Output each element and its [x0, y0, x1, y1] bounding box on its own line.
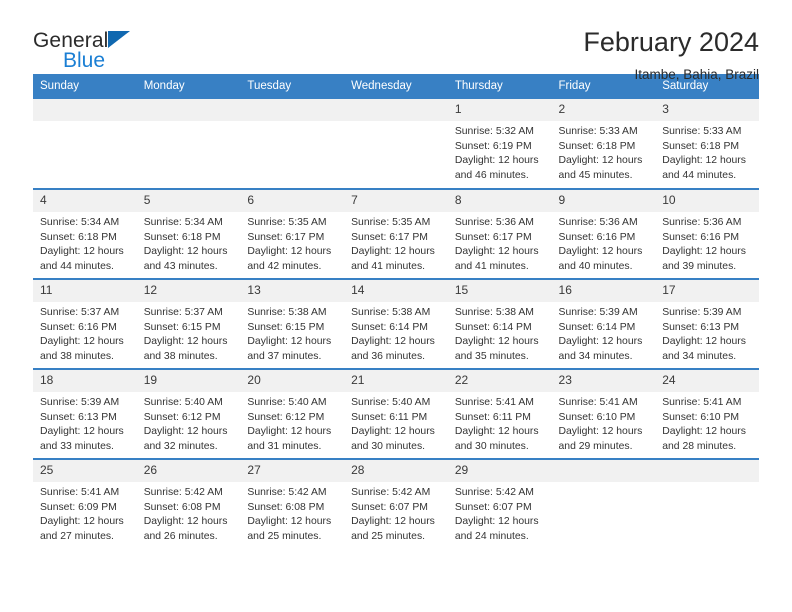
day-cell[interactable]: 27Sunrise: 5:42 AMSunset: 6:08 PMDayligh…: [240, 459, 344, 549]
day-details: Sunrise: 5:41 AMSunset: 6:10 PMDaylight:…: [552, 392, 656, 454]
day-cell[interactable]: 14Sunrise: 5:38 AMSunset: 6:14 PMDayligh…: [344, 279, 448, 369]
sunset-text: Sunset: 6:14 PM: [455, 321, 544, 336]
day-cell[interactable]: 7Sunrise: 5:35 AMSunset: 6:17 PMDaylight…: [344, 189, 448, 279]
daylight-text-line1: Daylight: 12 hours: [455, 245, 544, 260]
day-cell[interactable]: 21Sunrise: 5:40 AMSunset: 6:11 PMDayligh…: [344, 369, 448, 459]
sunrise-text: Sunrise: 5:41 AM: [559, 396, 648, 411]
day-number: [655, 460, 759, 482]
week-row: 4Sunrise: 5:34 AMSunset: 6:18 PMDaylight…: [33, 189, 759, 279]
sunset-text: Sunset: 6:18 PM: [662, 140, 751, 155]
day-details: Sunrise: 5:36 AMSunset: 6:16 PMDaylight:…: [655, 212, 759, 274]
day-details: Sunrise: 5:39 AMSunset: 6:13 PMDaylight:…: [33, 392, 137, 454]
day-details: Sunrise: 5:35 AMSunset: 6:17 PMDaylight:…: [344, 212, 448, 274]
sunset-text: Sunset: 6:18 PM: [144, 231, 233, 246]
day-details: Sunrise: 5:33 AMSunset: 6:18 PMDaylight:…: [655, 121, 759, 183]
day-number: 17: [655, 280, 759, 302]
day-number: 28: [344, 460, 448, 482]
day-number: 4: [33, 190, 137, 212]
sunset-text: Sunset: 6:08 PM: [247, 501, 336, 516]
weekday-header-thursday: Thursday: [448, 74, 552, 99]
day-number: 22: [448, 370, 552, 392]
day-details: Sunrise: 5:34 AMSunset: 6:18 PMDaylight:…: [33, 212, 137, 274]
day-number: 29: [448, 460, 552, 482]
page-title: February 2024: [583, 26, 759, 58]
day-details: Sunrise: 5:39 AMSunset: 6:14 PMDaylight:…: [552, 302, 656, 364]
day-number: 23: [552, 370, 656, 392]
sunrise-text: Sunrise: 5:34 AM: [40, 216, 129, 231]
day-number: [137, 99, 241, 121]
day-cell-empty: [655, 459, 759, 549]
daylight-text-line2: and 27 minutes.: [40, 530, 129, 545]
day-details: Sunrise: 5:36 AMSunset: 6:17 PMDaylight:…: [448, 212, 552, 274]
daylight-text-line1: Daylight: 12 hours: [559, 154, 648, 169]
day-details: Sunrise: 5:42 AMSunset: 6:08 PMDaylight:…: [137, 482, 241, 544]
daylight-text-line2: and 34 minutes.: [662, 350, 751, 365]
sunrise-text: Sunrise: 5:41 AM: [662, 396, 751, 411]
sunset-text: Sunset: 6:18 PM: [559, 140, 648, 155]
sunset-text: Sunset: 6:16 PM: [662, 231, 751, 246]
day-number: 26: [137, 460, 241, 482]
sunset-text: Sunset: 6:11 PM: [351, 411, 440, 426]
weekday-header-monday: Monday: [137, 74, 241, 99]
daylight-text-line1: Daylight: 12 hours: [144, 425, 233, 440]
daylight-text-line2: and 38 minutes.: [144, 350, 233, 365]
daylight-text-line1: Daylight: 12 hours: [40, 335, 129, 350]
daylight-text-line1: Daylight: 12 hours: [559, 335, 648, 350]
daylight-text-line2: and 31 minutes.: [247, 440, 336, 455]
sunrise-text: Sunrise: 5:35 AM: [351, 216, 440, 231]
day-cell[interactable]: 25Sunrise: 5:41 AMSunset: 6:09 PMDayligh…: [33, 459, 137, 549]
daylight-text-line2: and 36 minutes.: [351, 350, 440, 365]
sunset-text: Sunset: 6:08 PM: [144, 501, 233, 516]
day-number: [33, 99, 137, 121]
day-number: 13: [240, 280, 344, 302]
weekday-header-sunday: Sunday: [33, 74, 137, 99]
daylight-text-line1: Daylight: 12 hours: [351, 515, 440, 530]
day-number: 10: [655, 190, 759, 212]
day-cell[interactable]: 22Sunrise: 5:41 AMSunset: 6:11 PMDayligh…: [448, 369, 552, 459]
daylight-text-line2: and 43 minutes.: [144, 260, 233, 275]
day-cell-empty: [240, 99, 344, 189]
daylight-text-line1: Daylight: 12 hours: [455, 515, 544, 530]
sunset-text: Sunset: 6:10 PM: [662, 411, 751, 426]
sunrise-text: Sunrise: 5:41 AM: [40, 486, 129, 501]
daylight-text-line1: Daylight: 12 hours: [662, 425, 751, 440]
day-number: 11: [33, 280, 137, 302]
day-number: 6: [240, 190, 344, 212]
daylight-text-line2: and 39 minutes.: [662, 260, 751, 275]
daylight-text-line2: and 26 minutes.: [144, 530, 233, 545]
daylight-text-line1: Daylight: 12 hours: [455, 154, 544, 169]
day-cell[interactable]: 11Sunrise: 5:37 AMSunset: 6:16 PMDayligh…: [33, 279, 137, 369]
sunrise-text: Sunrise: 5:34 AM: [144, 216, 233, 231]
day-cell[interactable]: 10Sunrise: 5:36 AMSunset: 6:16 PMDayligh…: [655, 189, 759, 279]
day-cell[interactable]: 19Sunrise: 5:40 AMSunset: 6:12 PMDayligh…: [137, 369, 241, 459]
day-cell[interactable]: 4Sunrise: 5:34 AMSunset: 6:18 PMDaylight…: [33, 189, 137, 279]
day-cell[interactable]: 24Sunrise: 5:41 AMSunset: 6:10 PMDayligh…: [655, 369, 759, 459]
sunrise-text: Sunrise: 5:38 AM: [247, 306, 336, 321]
sunset-text: Sunset: 6:17 PM: [247, 231, 336, 246]
sunrise-text: Sunrise: 5:39 AM: [40, 396, 129, 411]
day-number: 8: [448, 190, 552, 212]
day-number: 3: [655, 99, 759, 121]
page-header: General Blue February 2024 Itambe, Bahia…: [33, 0, 759, 74]
calendar-grid: SundayMondayTuesdayWednesdayThursdayFrid…: [33, 74, 759, 549]
day-details: Sunrise: 5:38 AMSunset: 6:15 PMDaylight:…: [240, 302, 344, 364]
day-details: Sunrise: 5:41 AMSunset: 6:10 PMDaylight:…: [655, 392, 759, 454]
day-number: 2: [552, 99, 656, 121]
daylight-text-line2: and 46 minutes.: [455, 169, 544, 184]
day-number: 16: [552, 280, 656, 302]
sunrise-text: Sunrise: 5:36 AM: [662, 216, 751, 231]
day-cell[interactable]: 17Sunrise: 5:39 AMSunset: 6:13 PMDayligh…: [655, 279, 759, 369]
day-details: Sunrise: 5:38 AMSunset: 6:14 PMDaylight:…: [344, 302, 448, 364]
day-details: Sunrise: 5:35 AMSunset: 6:17 PMDaylight:…: [240, 212, 344, 274]
sunrise-text: Sunrise: 5:42 AM: [455, 486, 544, 501]
day-details: Sunrise: 5:40 AMSunset: 6:12 PMDaylight:…: [240, 392, 344, 454]
daylight-text-line1: Daylight: 12 hours: [247, 245, 336, 260]
sunrise-text: Sunrise: 5:42 AM: [144, 486, 233, 501]
day-details: Sunrise: 5:42 AMSunset: 6:07 PMDaylight:…: [344, 482, 448, 544]
day-cell-empty: [137, 99, 241, 189]
daylight-text-line2: and 44 minutes.: [40, 260, 129, 275]
sunrise-text: Sunrise: 5:42 AM: [247, 486, 336, 501]
brand-logo[interactable]: General Blue: [33, 26, 163, 71]
sunrise-text: Sunrise: 5:32 AM: [455, 125, 544, 140]
daylight-text-line2: and 25 minutes.: [247, 530, 336, 545]
sunrise-text: Sunrise: 5:40 AM: [247, 396, 336, 411]
day-cell[interactable]: 1Sunrise: 5:32 AMSunset: 6:19 PMDaylight…: [448, 99, 552, 189]
daylight-text-line1: Daylight: 12 hours: [247, 515, 336, 530]
daylight-text-line2: and 40 minutes.: [559, 260, 648, 275]
day-number: [240, 99, 344, 121]
day-number: 5: [137, 190, 241, 212]
day-details: Sunrise: 5:34 AMSunset: 6:18 PMDaylight:…: [137, 212, 241, 274]
day-details: Sunrise: 5:36 AMSunset: 6:16 PMDaylight:…: [552, 212, 656, 274]
sunrise-text: Sunrise: 5:36 AM: [559, 216, 648, 231]
day-cell[interactable]: 6Sunrise: 5:35 AMSunset: 6:17 PMDaylight…: [240, 189, 344, 279]
daylight-text-line2: and 45 minutes.: [559, 169, 648, 184]
daylight-text-line1: Daylight: 12 hours: [144, 335, 233, 350]
sunset-text: Sunset: 6:14 PM: [351, 321, 440, 336]
sunrise-text: Sunrise: 5:36 AM: [455, 216, 544, 231]
day-cell-empty: [552, 459, 656, 549]
sunrise-text: Sunrise: 5:37 AM: [40, 306, 129, 321]
sunset-text: Sunset: 6:13 PM: [662, 321, 751, 336]
day-number: 12: [137, 280, 241, 302]
daylight-text-line1: Daylight: 12 hours: [455, 425, 544, 440]
daylight-text-line2: and 42 minutes.: [247, 260, 336, 275]
sunrise-text: Sunrise: 5:33 AM: [559, 125, 648, 140]
daylight-text-line2: and 34 minutes.: [559, 350, 648, 365]
sunset-text: Sunset: 6:07 PM: [351, 501, 440, 516]
daylight-text-line1: Daylight: 12 hours: [144, 515, 233, 530]
day-number: 19: [137, 370, 241, 392]
daylight-text-line2: and 28 minutes.: [662, 440, 751, 455]
daylight-text-line2: and 44 minutes.: [662, 169, 751, 184]
daylight-text-line2: and 41 minutes.: [455, 260, 544, 275]
day-cell[interactable]: 8Sunrise: 5:36 AMSunset: 6:17 PMDaylight…: [448, 189, 552, 279]
daylight-text-line1: Daylight: 12 hours: [455, 335, 544, 350]
daylight-text-line2: and 35 minutes.: [455, 350, 544, 365]
week-row: 18Sunrise: 5:39 AMSunset: 6:13 PMDayligh…: [33, 369, 759, 459]
daylight-text-line1: Daylight: 12 hours: [559, 425, 648, 440]
week-row: 1Sunrise: 5:32 AMSunset: 6:19 PMDaylight…: [33, 99, 759, 189]
day-number: 7: [344, 190, 448, 212]
title-block: February 2024 Itambe, Bahia, Brazil: [583, 26, 759, 85]
weekday-header-tuesday: Tuesday: [240, 74, 344, 99]
day-cell[interactable]: 13Sunrise: 5:38 AMSunset: 6:15 PMDayligh…: [240, 279, 344, 369]
day-cell-empty: [344, 99, 448, 189]
brand-name-blue: Blue: [63, 50, 163, 71]
day-number: 27: [240, 460, 344, 482]
sunrise-text: Sunrise: 5:33 AM: [662, 125, 751, 140]
daylight-text-line2: and 38 minutes.: [40, 350, 129, 365]
day-number: 18: [33, 370, 137, 392]
day-number: 14: [344, 280, 448, 302]
daylight-text-line1: Daylight: 12 hours: [40, 245, 129, 260]
day-cell[interactable]: 16Sunrise: 5:39 AMSunset: 6:14 PMDayligh…: [552, 279, 656, 369]
daylight-text-line1: Daylight: 12 hours: [40, 425, 129, 440]
daylight-text-line1: Daylight: 12 hours: [351, 335, 440, 350]
sunrise-text: Sunrise: 5:37 AM: [144, 306, 233, 321]
day-number: 21: [344, 370, 448, 392]
daylight-text-line2: and 29 minutes.: [559, 440, 648, 455]
sunrise-text: Sunrise: 5:40 AM: [144, 396, 233, 411]
sunset-text: Sunset: 6:18 PM: [40, 231, 129, 246]
day-cell[interactable]: 2Sunrise: 5:33 AMSunset: 6:18 PMDaylight…: [552, 99, 656, 189]
sunrise-text: Sunrise: 5:38 AM: [455, 306, 544, 321]
daylight-text-line2: and 41 minutes.: [351, 260, 440, 275]
daylight-text-line1: Daylight: 12 hours: [144, 245, 233, 260]
day-number: 15: [448, 280, 552, 302]
daylight-text-line1: Daylight: 12 hours: [662, 335, 751, 350]
sunset-text: Sunset: 6:17 PM: [455, 231, 544, 246]
sunset-text: Sunset: 6:07 PM: [455, 501, 544, 516]
week-row: 25Sunrise: 5:41 AMSunset: 6:09 PMDayligh…: [33, 459, 759, 549]
day-number: 24: [655, 370, 759, 392]
day-details: Sunrise: 5:42 AMSunset: 6:08 PMDaylight:…: [240, 482, 344, 544]
day-cell[interactable]: 3Sunrise: 5:33 AMSunset: 6:18 PMDaylight…: [655, 99, 759, 189]
day-cell[interactable]: 12Sunrise: 5:37 AMSunset: 6:15 PMDayligh…: [137, 279, 241, 369]
triangle-icon: [108, 31, 130, 48]
day-details: Sunrise: 5:41 AMSunset: 6:11 PMDaylight:…: [448, 392, 552, 454]
day-cell[interactable]: 18Sunrise: 5:39 AMSunset: 6:13 PMDayligh…: [33, 369, 137, 459]
day-details: Sunrise: 5:40 AMSunset: 6:12 PMDaylight:…: [137, 392, 241, 454]
sunrise-text: Sunrise: 5:38 AM: [351, 306, 440, 321]
day-number: 25: [33, 460, 137, 482]
sunset-text: Sunset: 6:15 PM: [144, 321, 233, 336]
day-cell[interactable]: 5Sunrise: 5:34 AMSunset: 6:18 PMDaylight…: [137, 189, 241, 279]
sunset-text: Sunset: 6:16 PM: [559, 231, 648, 246]
sunset-text: Sunset: 6:09 PM: [40, 501, 129, 516]
sunrise-text: Sunrise: 5:41 AM: [455, 396, 544, 411]
sunset-text: Sunset: 6:11 PM: [455, 411, 544, 426]
sunrise-text: Sunrise: 5:39 AM: [662, 306, 751, 321]
week-row: 11Sunrise: 5:37 AMSunset: 6:16 PMDayligh…: [33, 279, 759, 369]
day-details: Sunrise: 5:38 AMSunset: 6:14 PMDaylight:…: [448, 302, 552, 364]
day-cell-empty: [33, 99, 137, 189]
weekday-header-wednesday: Wednesday: [344, 74, 448, 99]
daylight-text-line2: and 30 minutes.: [351, 440, 440, 455]
daylight-text-line1: Daylight: 12 hours: [662, 154, 751, 169]
sunset-text: Sunset: 6:12 PM: [247, 411, 336, 426]
day-cell[interactable]: 29Sunrise: 5:42 AMSunset: 6:07 PMDayligh…: [448, 459, 552, 549]
day-details: Sunrise: 5:33 AMSunset: 6:18 PMDaylight:…: [552, 121, 656, 183]
sunset-text: Sunset: 6:10 PM: [559, 411, 648, 426]
calendar-body: 1Sunrise: 5:32 AMSunset: 6:19 PMDaylight…: [33, 99, 759, 549]
daylight-text-line1: Daylight: 12 hours: [247, 425, 336, 440]
daylight-text-line1: Daylight: 12 hours: [351, 245, 440, 260]
day-details: Sunrise: 5:32 AMSunset: 6:19 PMDaylight:…: [448, 121, 552, 183]
sunset-text: Sunset: 6:17 PM: [351, 231, 440, 246]
sunset-text: Sunset: 6:19 PM: [455, 140, 544, 155]
day-cell[interactable]: 28Sunrise: 5:42 AMSunset: 6:07 PMDayligh…: [344, 459, 448, 549]
day-cell[interactable]: 15Sunrise: 5:38 AMSunset: 6:14 PMDayligh…: [448, 279, 552, 369]
sunrise-text: Sunrise: 5:35 AM: [247, 216, 336, 231]
sunset-text: Sunset: 6:16 PM: [40, 321, 129, 336]
day-details: Sunrise: 5:37 AMSunset: 6:16 PMDaylight:…: [33, 302, 137, 364]
daylight-text-line2: and 32 minutes.: [144, 440, 233, 455]
daylight-text-line1: Daylight: 12 hours: [559, 245, 648, 260]
day-number: 20: [240, 370, 344, 392]
calendar-page: General Blue February 2024 Itambe, Bahia…: [0, 0, 792, 612]
day-cell[interactable]: 26Sunrise: 5:42 AMSunset: 6:08 PMDayligh…: [137, 459, 241, 549]
daylight-text-line2: and 24 minutes.: [455, 530, 544, 545]
day-details: Sunrise: 5:39 AMSunset: 6:13 PMDaylight:…: [655, 302, 759, 364]
daylight-text-line2: and 37 minutes.: [247, 350, 336, 365]
sunrise-text: Sunrise: 5:42 AM: [351, 486, 440, 501]
day-details: Sunrise: 5:40 AMSunset: 6:11 PMDaylight:…: [344, 392, 448, 454]
day-number: 1: [448, 99, 552, 121]
day-cell[interactable]: 9Sunrise: 5:36 AMSunset: 6:16 PMDaylight…: [552, 189, 656, 279]
day-cell[interactable]: 20Sunrise: 5:40 AMSunset: 6:12 PMDayligh…: [240, 369, 344, 459]
sunset-text: Sunset: 6:13 PM: [40, 411, 129, 426]
daylight-text-line1: Daylight: 12 hours: [351, 425, 440, 440]
day-details: Sunrise: 5:42 AMSunset: 6:07 PMDaylight:…: [448, 482, 552, 544]
daylight-text-line1: Daylight: 12 hours: [40, 515, 129, 530]
daylight-text-line1: Daylight: 12 hours: [662, 245, 751, 260]
day-number: [552, 460, 656, 482]
daylight-text-line2: and 33 minutes.: [40, 440, 129, 455]
sunrise-text: Sunrise: 5:40 AM: [351, 396, 440, 411]
daylight-text-line1: Daylight: 12 hours: [247, 335, 336, 350]
daylight-text-line2: and 30 minutes.: [455, 440, 544, 455]
sunset-text: Sunset: 6:12 PM: [144, 411, 233, 426]
sunrise-text: Sunrise: 5:39 AM: [559, 306, 648, 321]
day-cell[interactable]: 23Sunrise: 5:41 AMSunset: 6:10 PMDayligh…: [552, 369, 656, 459]
day-number: [344, 99, 448, 121]
day-details: Sunrise: 5:37 AMSunset: 6:15 PMDaylight:…: [137, 302, 241, 364]
day-number: 9: [552, 190, 656, 212]
sunset-text: Sunset: 6:15 PM: [247, 321, 336, 336]
daylight-text-line2: and 25 minutes.: [351, 530, 440, 545]
sunset-text: Sunset: 6:14 PM: [559, 321, 648, 336]
day-details: Sunrise: 5:41 AMSunset: 6:09 PMDaylight:…: [33, 482, 137, 544]
